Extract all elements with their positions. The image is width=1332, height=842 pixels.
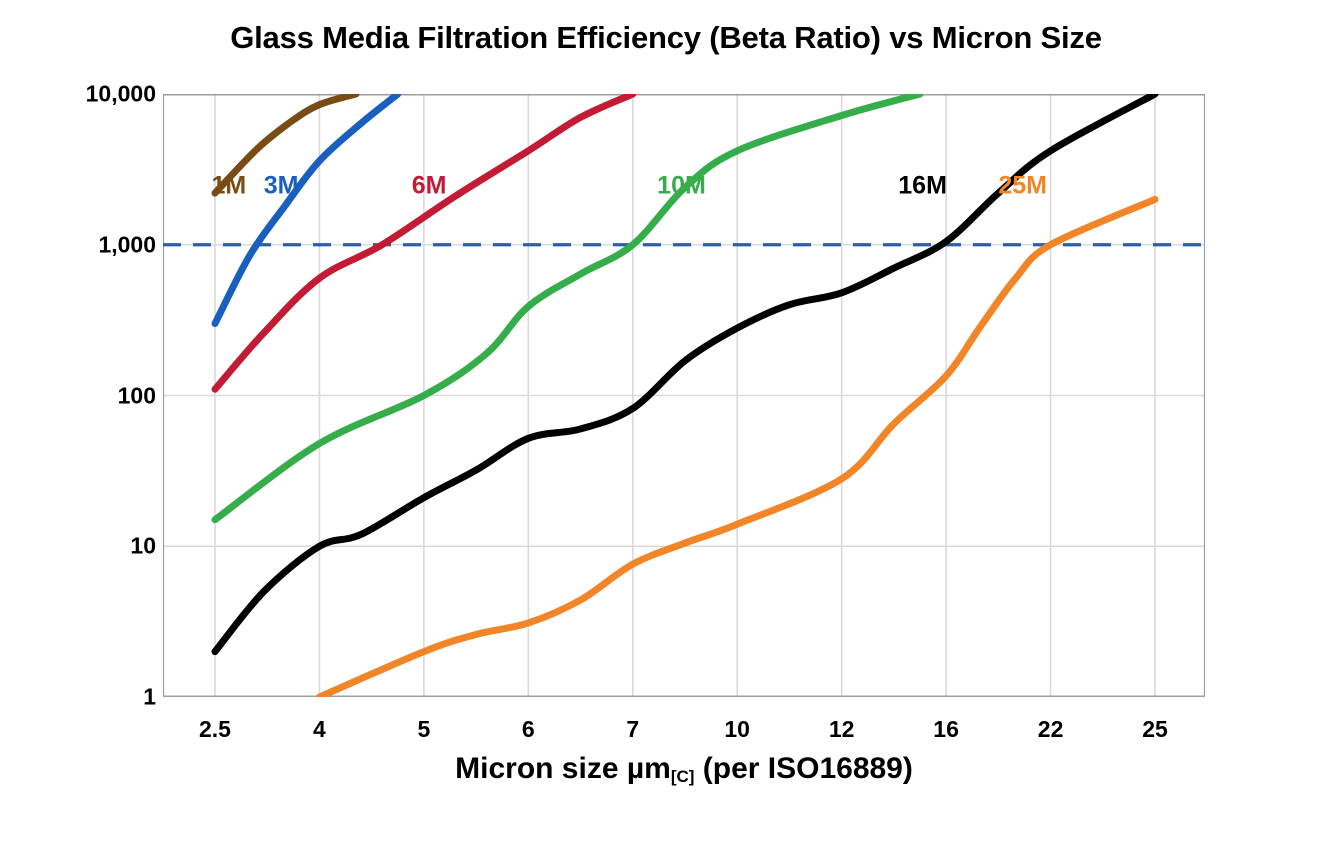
y-axis-tick-10000: 10,000 <box>16 81 156 108</box>
x-axis-tick-16: 16 <box>906 716 986 743</box>
x-axis-tick-5: 5 <box>384 716 464 743</box>
x-axis-tick-10: 10 <box>697 716 777 743</box>
series-label-16M: 16M <box>898 172 947 201</box>
y-axis-tick-1000: 1,000 <box>16 231 156 258</box>
series-label-6M: 6M <box>412 172 447 201</box>
x-axis-tick-4: 4 <box>279 716 359 743</box>
x-axis-tick-labels: 2.545671012162225 <box>163 716 1205 752</box>
x-axis-tick-22: 22 <box>1011 716 1091 743</box>
y-axis-tick-10: 10 <box>16 533 156 560</box>
y-axis-tick-labels: 1101001,00010,000 <box>8 94 156 697</box>
y-axis-tick-1: 1 <box>16 684 156 711</box>
chart-page: Glass Media Filtration Efficiency (Beta … <box>0 0 1332 842</box>
x-axis-tick-7: 7 <box>593 716 673 743</box>
x-axis-tick-12: 12 <box>802 716 882 743</box>
x-axis-title-subscript: [C] <box>671 767 695 786</box>
series-label-1M: 1M <box>212 172 247 201</box>
series-label-25M: 25M <box>998 172 1047 201</box>
x-axis-tick-6: 6 <box>488 716 568 743</box>
plot-area: 1M3M6M10M16M25M <box>163 94 1205 697</box>
x-axis-tick-25: 25 <box>1115 716 1195 743</box>
x-axis-title: Micron size µm[C] (per ISO16889) <box>163 752 1205 787</box>
y-axis-tick-100: 100 <box>16 382 156 409</box>
x-axis-title-main: Micron size µm <box>455 752 671 785</box>
chart-title: Glass Media Filtration Efficiency (Beta … <box>0 20 1332 56</box>
series-label-3M: 3M <box>264 172 299 201</box>
y-axis-title: Beta Ratio <box>0 200 3 460</box>
x-axis-title-tail: (per ISO16889) <box>694 752 912 785</box>
x-axis-tick-2.5: 2.5 <box>175 716 255 743</box>
series-label-10M: 10M <box>657 172 706 201</box>
